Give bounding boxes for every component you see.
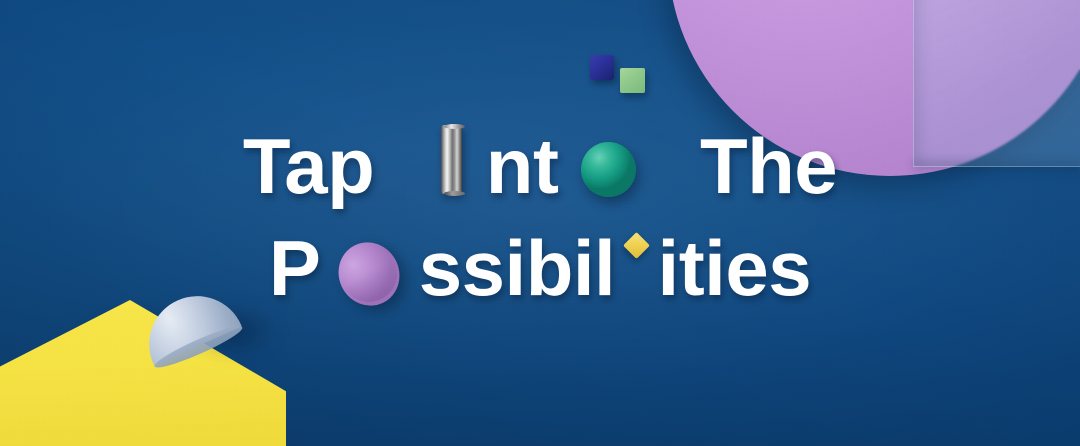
- navy-cube-shape: [590, 55, 614, 80]
- metal-cylinder-icon: [441, 125, 462, 194]
- headline-letter-p: P: [269, 220, 321, 316]
- green-cube-shape: [620, 68, 645, 93]
- purple-disc-surface: [327, 232, 410, 317]
- headline-line-1: Tap nt The: [0, 118, 1080, 214]
- hero-banner: Tap nt The P ssibil ities: [0, 0, 1080, 446]
- purple-disc-icon: [342, 245, 398, 301]
- headline-segment-ssibil: ssibil: [419, 220, 615, 316]
- headline-word-the: The: [700, 118, 837, 214]
- headline-line-2: P ssibil ities: [0, 220, 1080, 316]
- yellow-diamond-surface: [623, 232, 650, 259]
- headline-segment-ities: ities: [658, 220, 812, 316]
- headline-block: Tap nt The P ssibil ities: [0, 118, 1080, 316]
- headline-word-tap: Tap: [243, 118, 374, 214]
- teal-sphere-icon: [581, 142, 636, 197]
- headline-word-nt: nt: [486, 118, 559, 214]
